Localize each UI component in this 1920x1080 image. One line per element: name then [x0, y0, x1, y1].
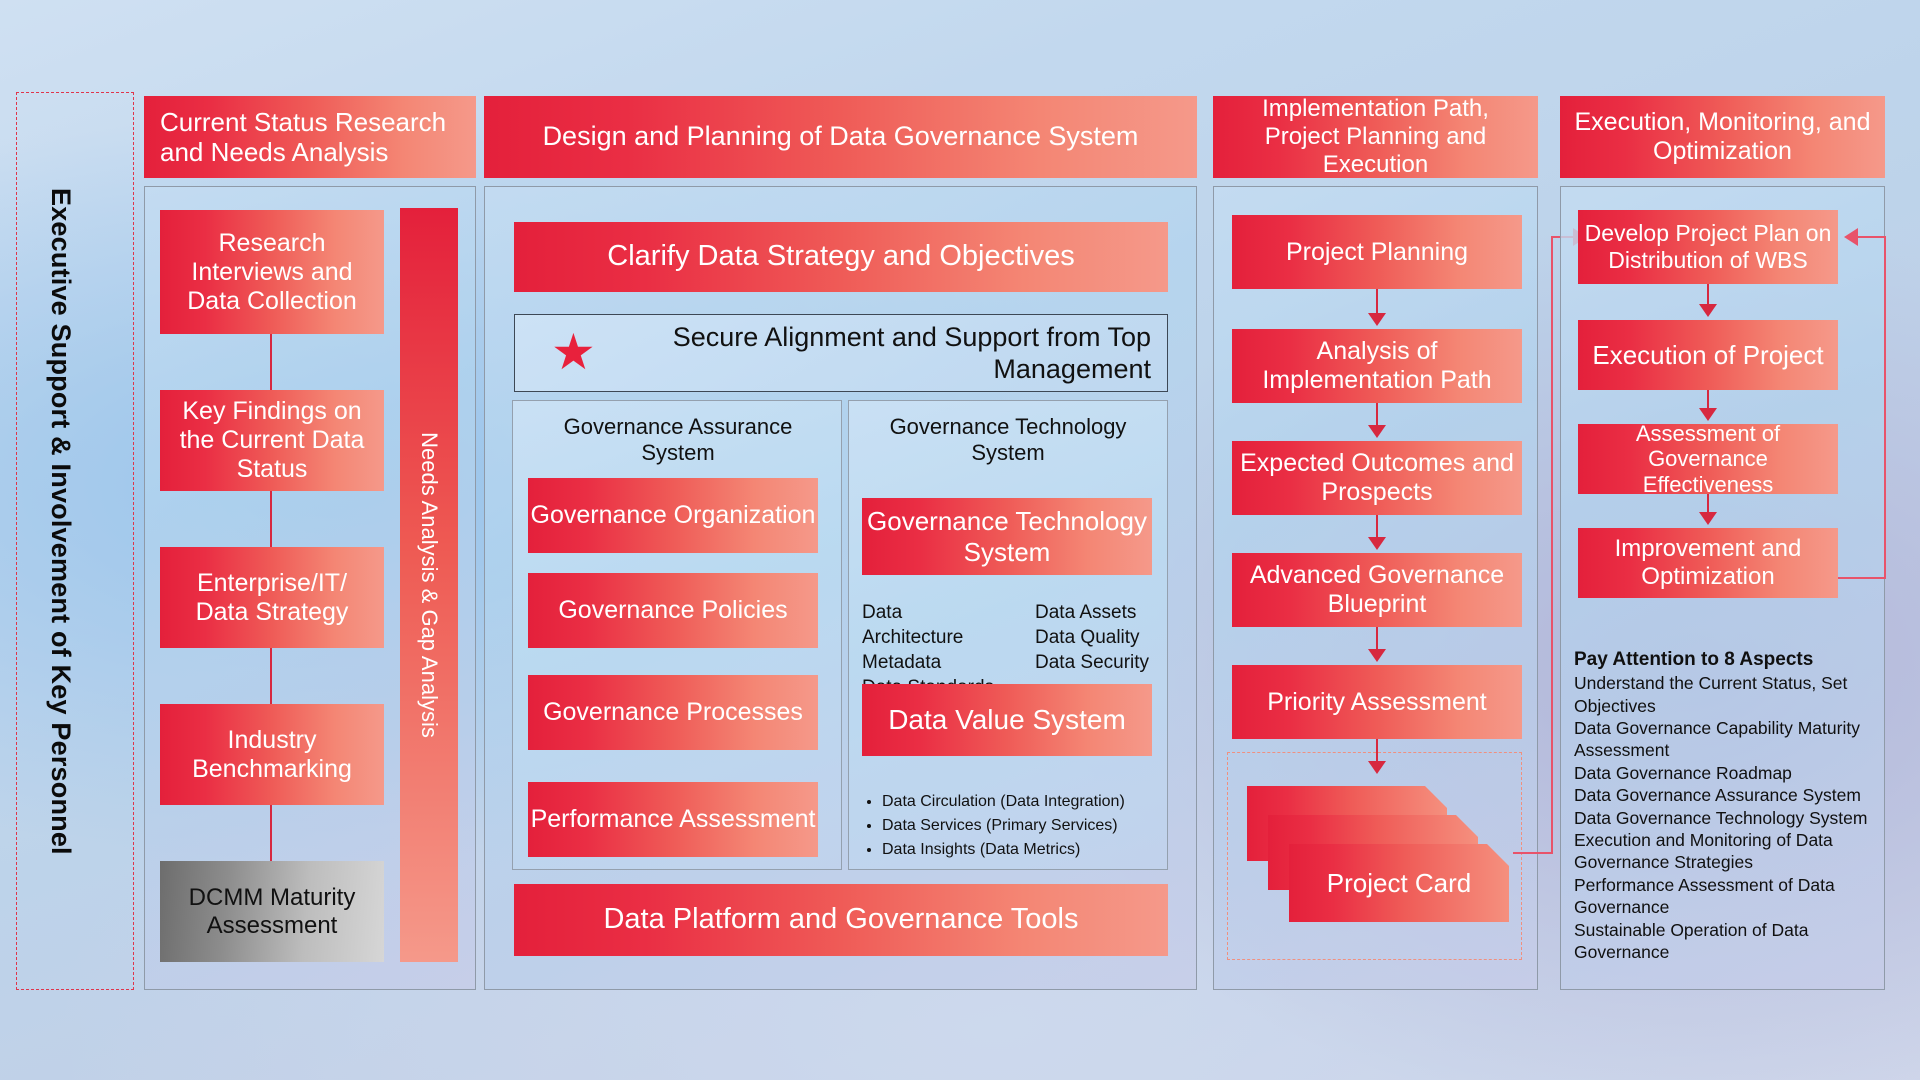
needs-gap-analysis-bar: Needs Analysis & Gap Analysis — [400, 208, 458, 962]
column4-step-1[interactable]: Develop Project Plan on Distribution of … — [1578, 210, 1838, 284]
col4-feedback-arrow — [1844, 228, 1858, 246]
tech-right-item-3: Data Security — [1035, 650, 1165, 675]
governance-technology-system-box[interactable]: Governance Technology System — [862, 498, 1152, 575]
column1-header: Current Status Research and Needs Analys… — [144, 96, 476, 178]
column1-step-3[interactable]: Enterprise/IT/ Data Strategy — [160, 547, 384, 648]
column1-step-2[interactable]: Key Findings on the Current Data Status — [160, 390, 384, 491]
governance-organization-box[interactable]: Governance Organization — [528, 478, 818, 553]
aspect-item-4: Data Governance Assurance System — [1574, 784, 1879, 806]
value-bullet-2: Data Services (Primary Services) — [882, 814, 1152, 838]
column3-step-5[interactable]: Priority Assessment — [1232, 665, 1522, 739]
card-to-col4-horizontal — [1513, 852, 1553, 854]
data-platform-tools-box[interactable]: Data Platform and Governance Tools — [514, 884, 1168, 956]
data-value-system-box[interactable]: Data Value System — [862, 684, 1152, 756]
aspect-item-6: Execution and Monitoring of Data Governa… — [1574, 829, 1879, 874]
column4-header: Execution, Monitoring, and Optimization — [1560, 96, 1885, 178]
column1-dcmm-box[interactable]: DCMM Maturity Assessment — [160, 861, 384, 962]
needs-gap-analysis-label: Needs Analysis & Gap Analysis — [416, 432, 442, 738]
aspect-item-3: Data Governance Roadmap — [1574, 762, 1879, 784]
column2-clarify-strategy-box[interactable]: Clarify Data Strategy and Objectives — [514, 222, 1168, 292]
column1-step-4[interactable]: Industry Benchmarking — [160, 704, 384, 805]
column3-arrow-3 — [1368, 537, 1386, 550]
diagram-canvas: Executive Support & Involvement of Key P… — [0, 0, 1920, 1080]
data-value-bullets: Data Circulation (Data Integration) Data… — [862, 790, 1152, 862]
value-bullet-3: Data Insights (Data Metrics) — [882, 838, 1152, 862]
tech-right-item-2: Data Quality — [1035, 625, 1165, 650]
governance-technology-caption: Governance Technology System — [862, 414, 1154, 466]
column3-arrow-1 — [1368, 313, 1386, 326]
column4-arrow-2 — [1699, 408, 1717, 421]
top-management-text: Secure Alignment and Support from Top Ma… — [625, 321, 1151, 386]
tech-left-item-2: Metadata — [862, 650, 1007, 675]
column1-connector-1 — [270, 334, 272, 390]
column3-step-1[interactable]: Project Planning — [1232, 215, 1522, 289]
col4-feedback-bottom — [1838, 577, 1886, 579]
column3-step-2[interactable]: Analysis of Implementation Path — [1232, 329, 1522, 403]
column1-connector-2 — [270, 491, 272, 547]
value-bullet-1: Data Circulation (Data Integration) — [882, 790, 1152, 814]
governance-policies-box[interactable]: Governance Policies — [528, 573, 818, 648]
aspect-item-5: Data Governance Technology System — [1574, 807, 1879, 829]
column4-step-2[interactable]: Execution of Project — [1578, 320, 1838, 390]
column2-header: Design and Planning of Data Governance S… — [484, 96, 1197, 178]
aspect-item-7: Performance Assessment of Data Governanc… — [1574, 874, 1879, 919]
star-icon: ★ — [551, 327, 596, 377]
column4-arrow-1 — [1699, 304, 1717, 317]
column3-step-3[interactable]: Expected Outcomes and Prospects — [1232, 441, 1522, 515]
column1-step-1[interactable]: Research Interviews and Data Collection — [160, 210, 384, 334]
aspect-item-8: Sustainable Operation of Data Governance — [1574, 919, 1879, 964]
governance-processes-box[interactable]: Governance Processes — [528, 675, 818, 750]
project-card-label: Project Card — [1327, 868, 1472, 899]
project-card-front[interactable]: Project Card — [1289, 844, 1509, 922]
column4-step-4[interactable]: Improvement and Optimization — [1578, 528, 1838, 598]
aspects-title: Pay Attention to 8 Aspects — [1574, 648, 1879, 672]
executive-support-label: Executive Support & Involvement of Key P… — [45, 188, 76, 908]
column2-top-management-highlight[interactable]: ★ Secure Alignment and Support from Top … — [514, 314, 1168, 392]
aspect-item-1: Understand the Current Status, Set Objec… — [1574, 672, 1879, 717]
column3-step-4[interactable]: Advanced Governance Blueprint — [1232, 553, 1522, 627]
aspect-item-2: Data Governance Capability Maturity Asse… — [1574, 717, 1879, 762]
column3-arrow-2 — [1368, 425, 1386, 438]
pay-attention-aspects-block: Pay Attention to 8 Aspects Understand th… — [1574, 648, 1879, 963]
technology-list-right: Data Assets Data Quality Data Security — [1035, 600, 1165, 675]
column4-arrow-3 — [1699, 512, 1717, 525]
column1-connector-3 — [270, 648, 272, 704]
column3-arrow-4 — [1368, 649, 1386, 662]
col4-feedback-top — [1858, 236, 1886, 238]
tech-right-item-1: Data Assets — [1035, 600, 1165, 625]
governance-assurance-caption: Governance Assurance System — [528, 414, 828, 466]
card-to-col4-vertical — [1551, 236, 1553, 854]
tech-left-item-1: Data Architecture — [862, 600, 1007, 650]
col4-feedback-vertical — [1884, 236, 1886, 579]
performance-assessment-box[interactable]: Performance Assessment — [528, 782, 818, 857]
column3-header: Implementation Path, Project Planning an… — [1213, 96, 1538, 178]
column4-step-3[interactable]: Assessment of Governance Effectiveness — [1578, 424, 1838, 494]
column1-connector-4 — [270, 805, 272, 861]
